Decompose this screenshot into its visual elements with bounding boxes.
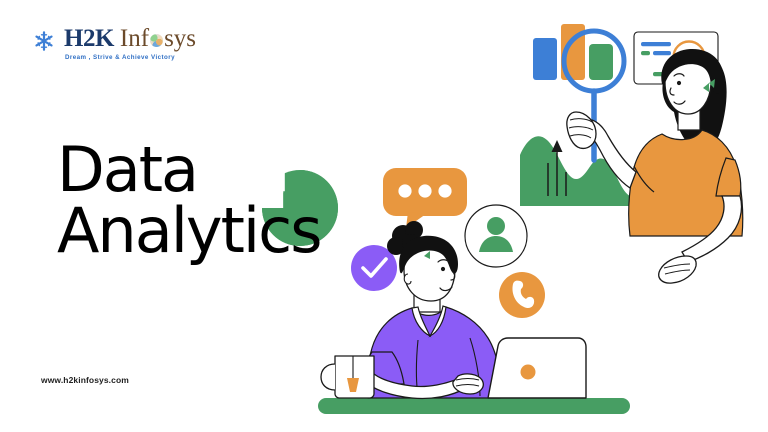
slide-canvas: H2K Inf sys Dream , Strive & Achieve Vic…: [0, 0, 768, 432]
title-line-1: Data: [57, 140, 321, 201]
typing-hand: [453, 374, 483, 394]
laptop-logo-dot: [521, 365, 536, 380]
speech-bubble-icon: [383, 168, 467, 228]
phone-call-circle-icon: [499, 272, 545, 318]
title-line-2: Analytics: [57, 201, 321, 262]
page-title: Data Analytics: [57, 140, 321, 262]
desk-surface: [318, 398, 630, 414]
tea-mug: [321, 356, 374, 398]
user-avatar-circle-icon: [465, 205, 527, 267]
laptop[interactable]: [488, 338, 586, 398]
